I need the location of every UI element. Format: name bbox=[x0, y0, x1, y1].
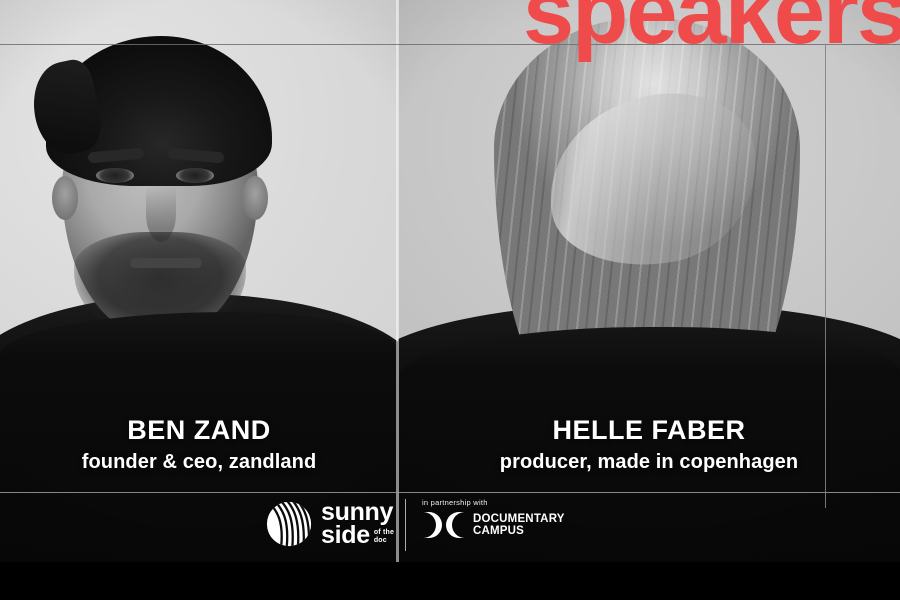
sunny-side-wordmark: sunny side of the doc bbox=[321, 501, 394, 547]
sunny-side-of-the-doc-logo: sunny side of the doc bbox=[266, 501, 394, 547]
portrait-panel-ben-zand bbox=[0, 0, 398, 562]
speaker-caption-helle-faber: HELLE FABER producer, made in copenhagen bbox=[398, 416, 900, 474]
sunny-side-tagline-line1: of the bbox=[374, 529, 394, 536]
documentary-campus-dc-icon bbox=[422, 511, 466, 539]
documentary-campus-wordmark: DOCUMENTARY CAMPUS bbox=[473, 513, 565, 538]
speaker-announcement-graphic: speakers BEN ZAND founder & ceo, zandlan… bbox=[0, 0, 900, 600]
sunny-side-line2: side bbox=[321, 524, 370, 547]
speaker-name: BEN ZAND bbox=[0, 416, 398, 446]
artwork-area: speakers BEN ZAND founder & ceo, zandlan… bbox=[0, 0, 900, 562]
dc-line1: DOCUMENTARY bbox=[473, 513, 565, 525]
documentary-campus-logo: in partnership with DOCUMENTARY CAMPUS bbox=[422, 498, 565, 539]
dc-line2: CAMPUS bbox=[473, 525, 565, 537]
bottom-letterbox-bar bbox=[0, 562, 900, 600]
portrait-backdrop-left bbox=[0, 0, 398, 562]
headline-speakers: speakers bbox=[523, 0, 900, 58]
partnership-label: in partnership with bbox=[422, 498, 565, 507]
sunny-side-circle-icon bbox=[266, 501, 312, 547]
speaker-name: HELLE FABER bbox=[398, 416, 900, 446]
speaker-caption-ben-zand: BEN ZAND founder & ceo, zandland bbox=[0, 416, 398, 474]
footer-logo-divider bbox=[405, 499, 406, 551]
speaker-role: producer, made in copenhagen bbox=[398, 450, 900, 474]
footer-logo-bar: sunny side of the doc in partnership wit… bbox=[0, 493, 900, 562]
sunny-side-tagline-line2: doc bbox=[374, 537, 394, 544]
sunny-side-tagline: of the doc bbox=[374, 529, 394, 547]
panel-seam-divider bbox=[396, 0, 399, 562]
speaker-role: founder & ceo, zandland bbox=[0, 450, 398, 474]
